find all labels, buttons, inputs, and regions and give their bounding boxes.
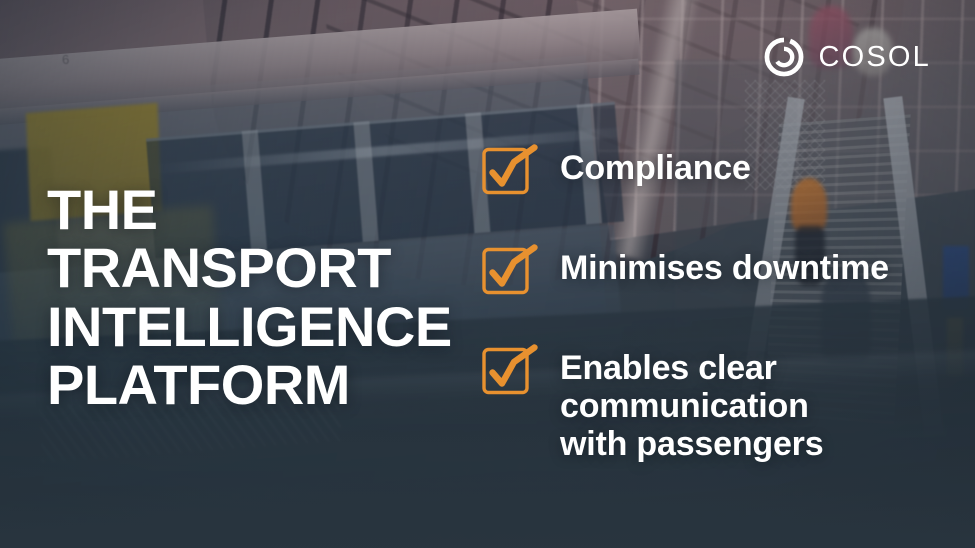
checklist-item-line: Enables clear [560, 349, 823, 387]
checklist-item-label: Enables clear communication with passeng… [560, 344, 823, 463]
checklist-item: Minimises downtime [481, 244, 951, 297]
headline-line-3: INTELLIGENCE [47, 298, 452, 357]
checkbox-tick-icon [481, 245, 539, 297]
checklist-item-label: Minimises downtime [560, 244, 889, 287]
brand-lockup: COSOL [763, 36, 931, 78]
checklist-item-line: Compliance [560, 149, 751, 187]
checklist-item: Enables clear communication with passeng… [481, 344, 951, 463]
headline-line-1: THE [47, 181, 452, 240]
checklist-item-label: Compliance [560, 144, 751, 187]
checklist-item-line: communication [560, 387, 823, 425]
slide-canvas: 6 COSOL [0, 0, 975, 548]
checklist-item: Compliance [481, 144, 951, 197]
headline-line-4: PLATFORM [47, 356, 452, 415]
checklist-item-line: Minimises downtime [560, 249, 889, 287]
brand-wordmark: COSOL [818, 43, 931, 72]
checkbox-tick-icon [481, 145, 539, 197]
cosol-ring-logo-icon [763, 36, 805, 78]
benefits-checklist: Compliance Minimises downtime Enab [481, 144, 951, 463]
checkbox-tick-icon [481, 345, 539, 397]
headline-line-2: TRANSPORT [47, 239, 452, 298]
page-title: THE TRANSPORT INTELLIGENCE PLATFORM [47, 181, 452, 415]
slide-content: COSOL THE TRANSPORT INTELLIGENCE PLATFOR… [0, 0, 975, 548]
checklist-item-line: with passengers [560, 425, 823, 463]
